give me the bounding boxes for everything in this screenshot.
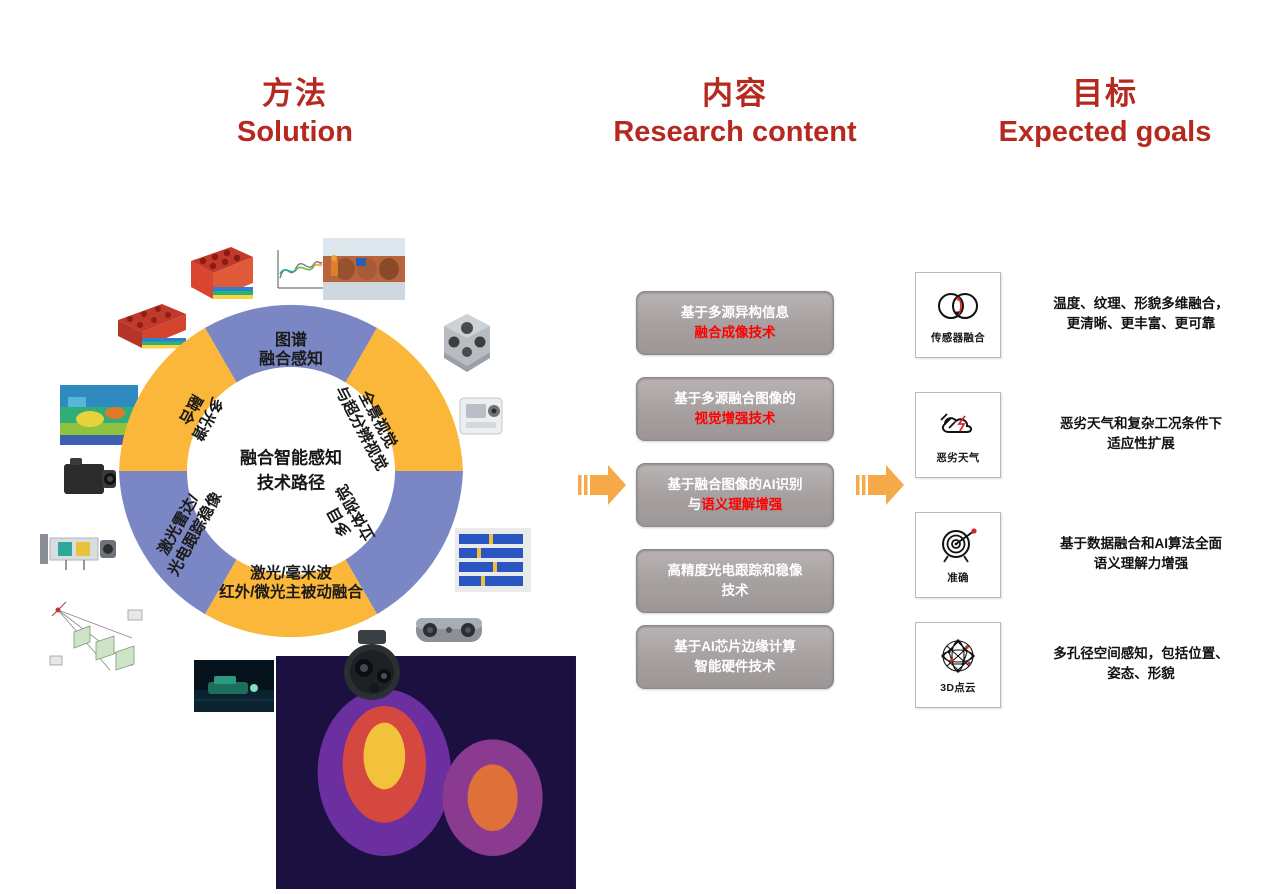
research-line2: 智能硬件技术 bbox=[674, 657, 796, 677]
target-dart-icon bbox=[936, 525, 980, 567]
research-line2: 语义理解增强 bbox=[701, 497, 782, 512]
goal-text-line2: 语义理解力增强 bbox=[1060, 554, 1222, 574]
header-cn-solution: 方法 bbox=[170, 76, 420, 113]
research-line1: 基于多源融合图像的 bbox=[674, 389, 796, 409]
research-line2: 融合成像技术 bbox=[681, 323, 789, 343]
polygon-sphere-icon bbox=[938, 635, 978, 677]
research-line1: 基于AI芯片边缘计算 bbox=[674, 637, 796, 657]
thumbnail-optics-module bbox=[36, 520, 122, 578]
goal-text-line2: 姿态、形貌 bbox=[1053, 664, 1229, 684]
thumbnail-night-vision-scene bbox=[194, 660, 274, 712]
header-cn-research: 内容 bbox=[570, 76, 900, 113]
thumbnail-spectrum-plot bbox=[268, 244, 328, 302]
thumbnail-black-camera bbox=[58, 452, 120, 504]
research-box-ai-semantic[interactable]: 基于融合图像的AI识别 与语义理解增强 bbox=[636, 463, 834, 527]
research-box-tracking-stabilization[interactable]: 高精度光电跟踪和稳像 技术 bbox=[636, 549, 834, 613]
goal-text-sensor-fusion: 温度、纹理、形貌多维融合， 更清晰、更丰富、更可靠 bbox=[1027, 272, 1255, 356]
venn-circles-icon bbox=[935, 285, 981, 327]
goal-row-severe-weather: 恶劣天气 恶劣天气和复杂工况条件下 适应性扩展 bbox=[915, 392, 1255, 488]
goal-text-accuracy: 基于数据融合和AI算法全面 语义理解力增强 bbox=[1027, 512, 1255, 596]
header-en-research: Research content bbox=[570, 115, 900, 149]
research-line2: 视觉增强技术 bbox=[674, 409, 796, 429]
goal-caption: 传感器融合 bbox=[931, 330, 985, 345]
goal-row-accuracy: 准确 基于数据融合和AI算法全面 语义理解力增强 bbox=[915, 512, 1255, 608]
goal-card-point-cloud[interactable]: 3D点云 bbox=[915, 622, 1001, 708]
header-en-goals: Expected goals bbox=[960, 115, 1250, 149]
research-box-fusion-imaging[interactable]: 基于多源异构信息 融合成像技术 bbox=[636, 291, 834, 355]
goal-card-severe-weather[interactable]: 恶劣天气 bbox=[915, 392, 1001, 478]
thumbnail-hyperspectral-cube bbox=[187, 243, 257, 305]
goal-text-line1: 恶劣天气和复杂工况条件下 bbox=[1060, 414, 1222, 434]
research-line1: 基于融合图像的AI识别 bbox=[668, 475, 803, 495]
column-header-solution: 方法 Solution bbox=[170, 76, 420, 149]
wheel-label-active-passive: 激光/毫米波 红外/微光主被动融合 bbox=[171, 565, 411, 602]
goal-text-severe-weather: 恶劣天气和复杂工况条件下 适应性扩展 bbox=[1027, 392, 1255, 476]
goal-text-line1: 温度、纹理、形貌多维融合， bbox=[1053, 294, 1229, 314]
goal-caption: 准确 bbox=[947, 570, 969, 585]
research-box-visual-enhancement[interactable]: 基于多源融合图像的 视觉增强技术 bbox=[636, 377, 834, 441]
wheel-center-label: 融合智能感知 技术路径 bbox=[240, 446, 342, 495]
goal-text-line1: 基于数据融合和AI算法全面 bbox=[1060, 534, 1222, 554]
research-line2: 技术 bbox=[668, 581, 803, 601]
goal-text-point-cloud: 多孔径空间感知，包括位置、 姿态、形貌 bbox=[1027, 622, 1255, 706]
goal-row-sensor-fusion: 传感器融合 温度、纹理、形貌多维融合， 更清晰、更丰富、更可靠 bbox=[915, 272, 1255, 368]
column-header-research: 内容 Research content bbox=[570, 76, 900, 149]
thumbnail-thermal-colormap bbox=[276, 656, 576, 894]
goal-text-line1: 多孔径空间感知，包括位置、 bbox=[1053, 644, 1229, 664]
technology-path-wheel: 图谱 融合感知 全景视觉 与超分辨视觉 多目 立体视觉 激光/毫米波 红外/微光… bbox=[119, 299, 463, 643]
header-en-solution: Solution bbox=[170, 115, 420, 149]
thumbnail-blue-depth-map bbox=[455, 528, 531, 592]
rain-cloud-icon bbox=[935, 405, 981, 447]
research-line1: 基于多源异构信息 bbox=[681, 303, 789, 323]
goal-text-line2: 更清晰、更丰富、更可靠 bbox=[1053, 314, 1229, 334]
research-line1: 高精度光电跟踪和稳像 bbox=[668, 561, 803, 581]
column-header-goals: 目标 Expected goals bbox=[960, 76, 1250, 149]
goal-caption: 3D点云 bbox=[940, 680, 976, 695]
research-line2-prefix: 与 bbox=[688, 497, 702, 512]
arrow-solution-to-content bbox=[574, 457, 630, 513]
goal-caption: 恶劣天气 bbox=[936, 450, 979, 465]
arrow-content-to-goals bbox=[852, 457, 908, 513]
header-cn-goals: 目标 bbox=[960, 76, 1250, 113]
goal-row-point-cloud: 3D点云 多孔径空间感知，包括位置、 姿态、形貌 bbox=[915, 622, 1255, 718]
research-box-ai-chip-edge[interactable]: 基于AI芯片边缘计算 智能硬件技术 bbox=[636, 625, 834, 689]
goal-text-line2: 适应性扩展 bbox=[1060, 434, 1222, 454]
goal-card-sensor-fusion[interactable]: 传感器融合 bbox=[915, 272, 1001, 358]
thumbnail-pipeline-site bbox=[323, 238, 405, 300]
goal-card-accuracy[interactable]: 准确 bbox=[915, 512, 1001, 598]
